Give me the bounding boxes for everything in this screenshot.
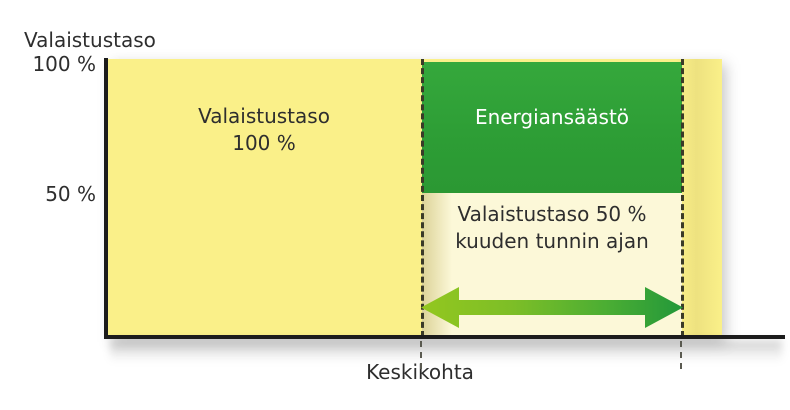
label-lighting-50-line1: Valaistustaso 50 % <box>422 201 682 228</box>
lighting-level-energy-saving-chart: Valaistustaso 100 % 50 % Valaistustaso 1… <box>0 0 790 410</box>
double-headed-horizontal-arrow-icon <box>421 284 683 332</box>
label-lighting-100-line2: 100 % <box>108 130 420 157</box>
y-axis-tick-50: 50 % <box>0 182 96 206</box>
dashed-stub-end <box>680 341 682 369</box>
label-energy-saving: Energiansäästö <box>422 104 682 131</box>
dashed-stub-midpoint <box>420 341 422 369</box>
x-axis-line <box>104 335 785 339</box>
label-lighting-100: Valaistustaso 100 % <box>108 103 420 157</box>
label-lighting-50-line2: kuuden tunnin ajan <box>422 228 682 255</box>
label-lighting-50: Valaistustaso 50 % kuuden tunnin ajan <box>422 201 682 255</box>
y-axis-tick-100: 100 % <box>0 52 96 76</box>
y-axis-title: Valaistustaso <box>24 28 156 52</box>
label-lighting-100-line1: Valaistustaso <box>108 103 420 130</box>
y-axis-line <box>104 58 108 339</box>
duration-arrow <box>421 284 683 332</box>
